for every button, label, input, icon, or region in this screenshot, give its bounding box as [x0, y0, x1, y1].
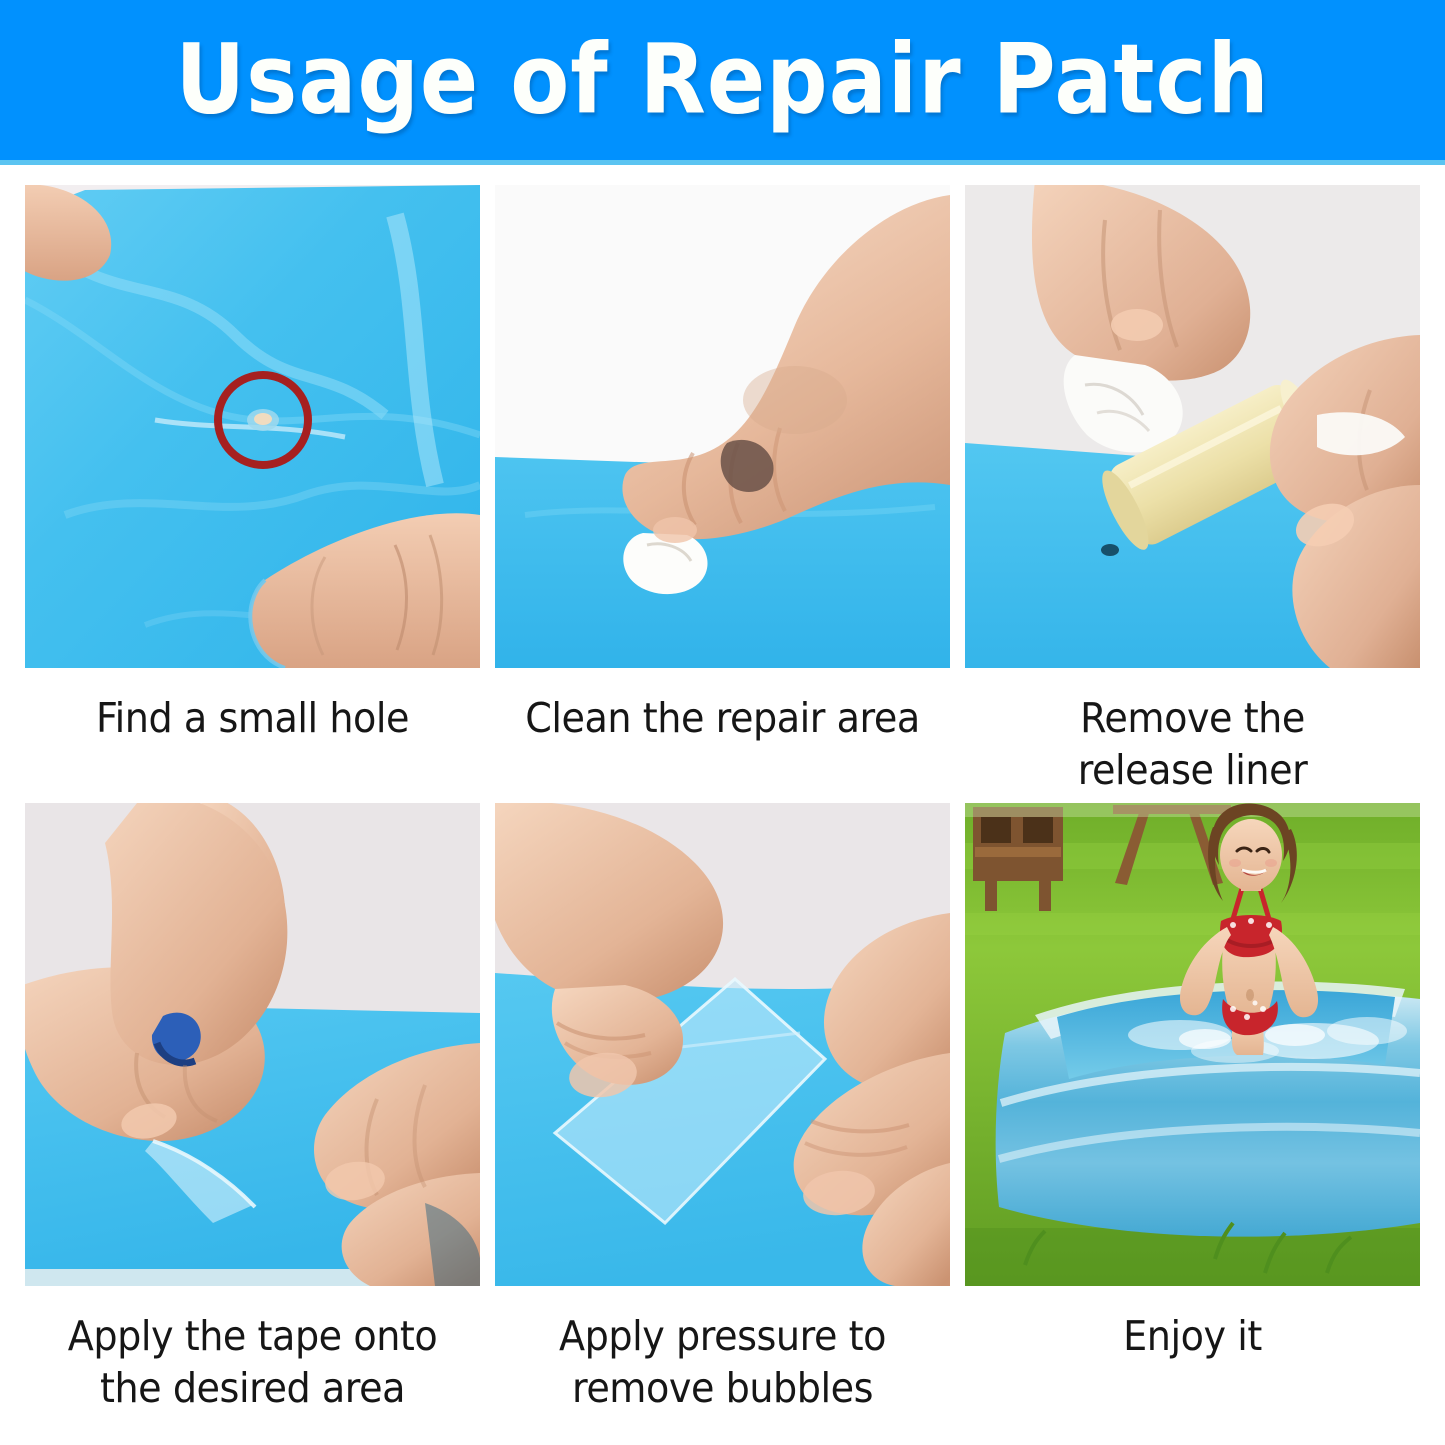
step-caption-5: Apply pressure to remove bubbles: [511, 1286, 934, 1421]
steps-grid: Find a small hole: [25, 185, 1420, 1421]
step-caption-2: Clean the repair area: [511, 668, 934, 803]
caption-line: Remove the: [981, 692, 1404, 744]
step-caption-1: Find a small hole: [41, 668, 464, 803]
step-photo-find-hole: [25, 185, 480, 668]
page-title: Usage of Repair Patch: [175, 32, 1269, 128]
caption-line: the desired area: [41, 1362, 464, 1414]
step-cell-3: Remove the release liner: [965, 185, 1420, 803]
step-caption-6: Enjoy it: [981, 1286, 1404, 1421]
step-cell-5: Apply pressure to remove bubbles: [495, 803, 950, 1421]
caption-line: Enjoy it: [981, 1310, 1404, 1362]
caption-line: Clean the repair area: [511, 692, 934, 744]
step-cell-1: Find a small hole: [25, 185, 480, 803]
caption-line: remove bubbles: [511, 1362, 934, 1414]
step-cell-4: Apply the tape onto the desired area: [25, 803, 480, 1421]
caption-line: Apply pressure to: [511, 1310, 934, 1362]
step-photo-clean-area: [495, 185, 950, 668]
step-caption-4: Apply the tape onto the desired area: [41, 1286, 464, 1421]
caption-line: Apply the tape onto: [41, 1310, 464, 1362]
step-photo-remove-liner: [965, 185, 1420, 668]
step-cell-6: Enjoy it: [965, 803, 1420, 1421]
step-cell-2: Clean the repair area: [495, 185, 950, 803]
header-underline: [0, 160, 1445, 165]
step-photo-enjoy-it: [965, 803, 1420, 1286]
caption-line: release liner: [981, 744, 1404, 796]
step-caption-3: Remove the release liner: [981, 668, 1404, 803]
header-banner: Usage of Repair Patch: [0, 0, 1445, 160]
infographic-page: Usage of Repair Patch: [0, 0, 1445, 1445]
step-photo-apply-tape: [25, 803, 480, 1286]
step-photo-apply-pressure: [495, 803, 950, 1286]
caption-line: Find a small hole: [41, 692, 464, 744]
